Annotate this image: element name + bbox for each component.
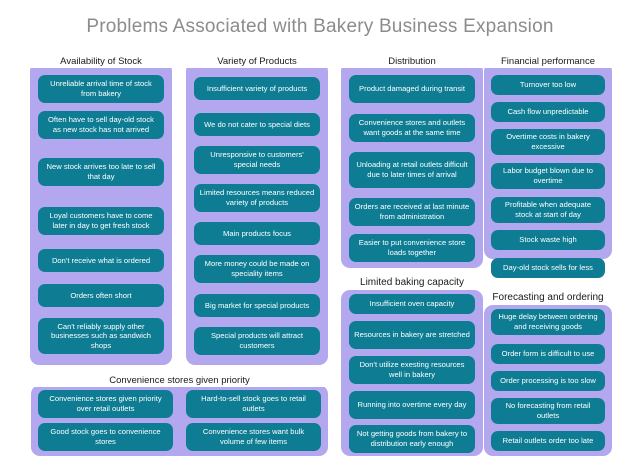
node-item[interactable]: Not getting goods from bakery to distrib… — [349, 425, 475, 453]
node-label: Orders are received at last minute from … — [354, 202, 470, 221]
node-item[interactable]: Convenience stores given priority over r… — [38, 390, 173, 418]
node-label: Labor budget blown due to overtime — [496, 166, 600, 185]
node-label: Hard-to-sell stock goes to retail outlet… — [191, 394, 316, 413]
node-item[interactable]: Day-old stock sells for less — [491, 258, 605, 278]
node-item[interactable]: Order form is difficult to use — [491, 344, 605, 364]
node-label: Overtime costs in bakery excessive — [496, 132, 600, 151]
node-item[interactable]: We do not cater to special diets — [194, 113, 320, 136]
node-item[interactable]: Unreliable arrival time of stock from ba… — [38, 75, 164, 103]
node-item[interactable]: Loyal customers have to come later in da… — [38, 207, 164, 235]
group-heading-financial-performance: Financial performance — [484, 55, 612, 68]
node-item[interactable]: Running into overtime every day — [349, 391, 475, 419]
group-heading-limited-baking-capacity: Limited baking capacity — [341, 276, 483, 289]
node-label: Good stock goes to convenience stores — [43, 427, 168, 446]
node-label: Insufficient variety of products — [199, 84, 315, 94]
node-label: Unreliable arrival time of stock from ba… — [43, 79, 159, 98]
node-label: Often have to sell day-old stock as new … — [43, 115, 159, 134]
node-label: Insufficient oven capacity — [354, 299, 470, 309]
node-item[interactable]: New stock arrives too late to sell that … — [38, 158, 164, 186]
group-variety-of-products[interactable] — [186, 62, 328, 365]
node-label: Unresponsive to customers' special needs — [199, 150, 315, 169]
node-item[interactable]: Retail outlets order too late — [491, 431, 605, 451]
node-label: Day-old stock sells for less — [496, 263, 600, 273]
node-item[interactable]: Often have to sell day-old stock as new … — [38, 111, 164, 139]
node-label: Orders often short — [43, 291, 159, 301]
node-label: Not getting goods from bakery to distrib… — [354, 429, 470, 448]
node-item[interactable]: Unresponsive to customers' special needs — [194, 146, 320, 174]
node-label: Retail outlets order too late — [496, 436, 600, 446]
node-label: Can't reliably supply other businesses s… — [43, 322, 159, 351]
node-label: Unloading at retail outlets difficult du… — [354, 160, 470, 179]
node-item[interactable]: Orders often short — [38, 284, 164, 307]
node-label: We do not cater to special diets — [199, 120, 315, 130]
node-label: New stock arrives too late to sell that … — [43, 162, 159, 181]
group-heading-convenience-stores-given-priority: Convenience stores given priority — [31, 374, 328, 387]
node-item[interactable]: Don't utilize exesting resources well in… — [349, 356, 475, 384]
node-label: Huge delay between ordering and receivin… — [496, 312, 600, 331]
node-item[interactable]: Insufficient oven capacity — [349, 294, 475, 314]
node-label: Don't utilize exesting resources well in… — [354, 360, 470, 379]
node-item[interactable]: Convenience stores and outlets want good… — [349, 114, 475, 142]
node-item[interactable]: Stock waste high — [491, 230, 605, 250]
page-title: Problems Associated with Bakery Business… — [0, 16, 640, 38]
node-item[interactable]: Resources in bakery are stretched — [349, 321, 475, 349]
node-item[interactable]: More money could be made on speciality i… — [194, 255, 320, 283]
node-item[interactable]: Big market for special products — [194, 294, 320, 317]
group-heading-distribution: Distribution — [341, 55, 483, 68]
node-label: Turnover too low — [496, 80, 600, 90]
node-item[interactable]: No forecasting from retail outlets — [491, 398, 605, 424]
node-label: Convenience stores want bulk volume of f… — [191, 427, 316, 446]
node-label: Cash flow unpredictable — [496, 107, 600, 117]
group-heading-availability-of-stock: Availability of Stock — [30, 55, 172, 68]
node-label: Resources in bakery are stretched — [354, 330, 470, 340]
node-item[interactable]: Labor budget blown due to overtime — [491, 163, 605, 189]
node-label: Product damaged during transit — [354, 84, 470, 94]
node-label: Special products will attract customers — [199, 331, 315, 350]
node-label: Order form is difficult to use — [496, 349, 600, 359]
node-item[interactable]: Don't receive what is ordered — [38, 249, 164, 272]
node-label: Easier to put convenience store loads to… — [354, 238, 470, 257]
node-label: Stock waste high — [496, 235, 600, 245]
node-label: Profitable when adequate stock at start … — [496, 200, 600, 219]
node-item[interactable]: Special products will attract customers — [194, 327, 320, 355]
node-item[interactable]: Turnover too low — [491, 75, 605, 95]
group-heading-variety-of-products: Variety of Products — [186, 55, 328, 68]
node-item[interactable]: Easier to put convenience store loads to… — [349, 234, 475, 262]
node-item[interactable]: Good stock goes to convenience stores — [38, 423, 173, 451]
node-label: Loyal customers have to come later in da… — [43, 211, 159, 230]
node-item[interactable]: Huge delay between ordering and receivin… — [491, 309, 605, 335]
node-item[interactable]: Insufficient variety of products — [194, 77, 320, 100]
diagram-canvas: Problems Associated with Bakery Business… — [0, 0, 640, 470]
node-item[interactable]: Orders are received at last minute from … — [349, 198, 475, 226]
node-label: Order processing is too slow — [496, 376, 600, 386]
node-item[interactable]: Product damaged during transit — [349, 75, 475, 103]
node-item[interactable]: Limited resources means reduced variety … — [194, 184, 320, 212]
node-item[interactable]: Convenience stores want bulk volume of f… — [186, 423, 321, 451]
node-label: Convenience stores given priority over r… — [43, 394, 168, 413]
node-item[interactable]: Cash flow unpredictable — [491, 102, 605, 122]
node-label: Running into overtime every day — [354, 400, 470, 410]
node-label: Main products focus — [199, 229, 315, 239]
group-heading-forecasting-and-ordering: Forecasting and ordering — [484, 291, 612, 304]
node-label: No forecasting from retail outlets — [496, 401, 600, 420]
node-label: Big market for special products — [199, 301, 315, 311]
node-item[interactable]: Hard-to-sell stock goes to retail outlet… — [186, 390, 321, 418]
node-item[interactable]: Overtime costs in bakery excessive — [491, 129, 605, 155]
node-item[interactable]: Main products focus — [194, 222, 320, 245]
node-label: Limited resources means reduced variety … — [199, 188, 315, 207]
node-item[interactable]: Order processing is too slow — [491, 371, 605, 391]
node-label: More money could be made on speciality i… — [199, 259, 315, 278]
node-item[interactable]: Profitable when adequate stock at start … — [491, 197, 605, 223]
node-label: Don't receive what is ordered — [43, 256, 159, 266]
node-item[interactable]: Can't reliably supply other businesses s… — [38, 318, 164, 354]
node-label: Convenience stores and outlets want good… — [354, 118, 470, 137]
node-item[interactable]: Unloading at retail outlets difficult du… — [349, 152, 475, 188]
